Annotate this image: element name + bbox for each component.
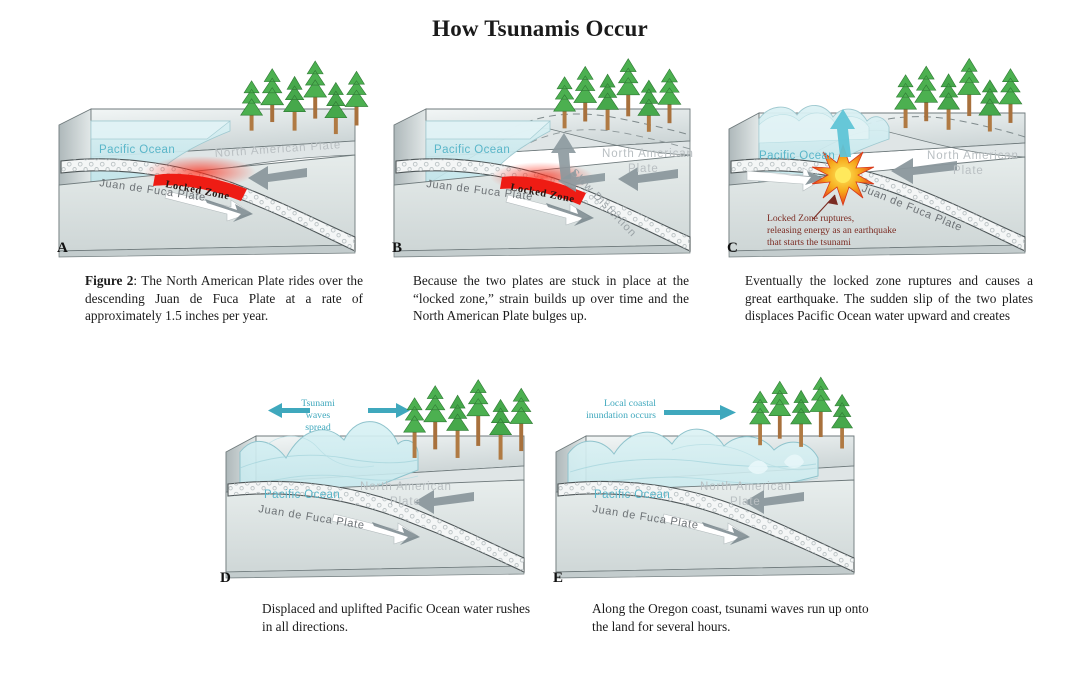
- caption-b-text: Because the two plates are stuck in plac…: [413, 273, 689, 323]
- caption-d-text: Displaced and uplifted Pacific Ocean wat…: [262, 601, 530, 634]
- caption-a: Figure 2: The North American Plate rides…: [85, 272, 363, 325]
- panel-letter-c: C: [727, 240, 738, 257]
- pacific-ocean-label-d: Pacific Ocean: [264, 489, 340, 501]
- annotation-d-line2: waves: [306, 410, 331, 421]
- caption-d: Displaced and uplifted Pacific Ocean wat…: [262, 600, 534, 635]
- panel-d-diagram: Tsunami waves spread Pacific Ocean North…: [222, 392, 534, 582]
- annotation-c-line1: Locked Zone ruptures,: [767, 213, 854, 224]
- panel-e-diagram: Local coastal inundation occurs Pacific …: [552, 392, 864, 582]
- figure-root: How Tsunamis Occur: [0, 0, 1080, 675]
- north-american-plate-label-d-line2: Plate: [390, 496, 421, 508]
- annotation-e-line2: inundation occurs: [586, 410, 656, 421]
- north-american-plate-label-e-line2: Plate: [730, 496, 761, 508]
- panel-b-diagram: Locked Zone Pacific Ocean North Ameri: [390, 95, 700, 260]
- caption-e: Along the Oregon coast, tsunami waves ru…: [592, 600, 874, 635]
- figure-title: How Tsunamis Occur: [0, 16, 1080, 42]
- panel-letter-e: E: [553, 570, 563, 587]
- pacific-ocean-label-c: Pacific Ocean: [759, 150, 835, 162]
- caption-c-text: Eventually the locked zone ruptures and …: [745, 273, 1033, 323]
- tsunami-spread-arrows: [268, 403, 410, 418]
- north-american-plate-label-d-line1: North American: [360, 481, 452, 493]
- pacific-ocean-label-e: Pacific Ocean: [594, 489, 670, 501]
- panel-c-diagram: Pacific Ocean North American Plate Juan …: [725, 95, 1035, 260]
- caption-a-bold: Figure 2: [85, 273, 133, 288]
- north-american-plate-label-e-line1: North American: [700, 481, 792, 493]
- annotation-c-line2: releasing energy as an earthquake: [767, 225, 896, 236]
- annotation-e-line1: Local coastal: [604, 398, 656, 409]
- annotation-d-line1: Tsunami: [301, 398, 335, 409]
- north-american-plate-label-b-line1: North American: [602, 148, 694, 160]
- caption-b: Because the two plates are stuck in plac…: [413, 272, 689, 325]
- panel-letter-b: B: [392, 240, 402, 257]
- north-american-plate-label-c-line2: Plate: [953, 165, 984, 177]
- north-american-plate-label-c-line1: North American: [927, 150, 1019, 162]
- panel-letter-d: D: [220, 570, 231, 587]
- caption-c: Eventually the locked zone ruptures and …: [745, 272, 1033, 325]
- annotation-c-line3: that starts the tsunami: [767, 237, 851, 248]
- caption-e-text: Along the Oregon coast, tsunami waves ru…: [592, 601, 869, 634]
- panel-a-diagram: Locked Zone Pacific Ocean North Ameri: [55, 95, 365, 260]
- north-american-plate-label-b-line2: Plate: [628, 163, 659, 175]
- pacific-ocean-label-a: Pacific Ocean: [99, 144, 175, 156]
- annotation-d-line3: spread: [305, 422, 331, 433]
- pacific-ocean-label-b: Pacific Ocean: [434, 144, 510, 156]
- panel-letter-a: A: [57, 240, 68, 257]
